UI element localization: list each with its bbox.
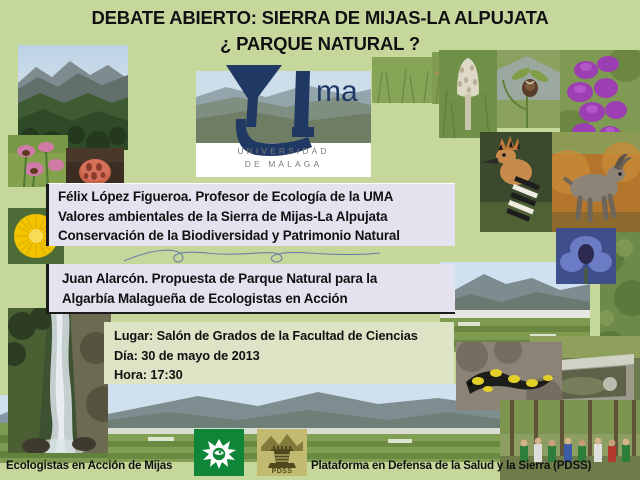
photo-hoopoe [480, 132, 552, 232]
uma-logo: ma UNIVERSIDAD DE MÁLAGA [196, 57, 371, 177]
pdss-logo-caption: PDSS [257, 468, 307, 475]
photo-ibex [548, 132, 640, 232]
ecologistas-en-accion-logo [194, 429, 244, 476]
event-venue: Lugar: Salón de Grados de la Facultad de… [114, 326, 454, 346]
speaker-2-panel: Juan Alarcón. Propuesta de Parque Natura… [46, 264, 455, 314]
uma-logo-caption: UNIVERSIDAD DE MÁLAGA [196, 145, 371, 171]
sun-bird-icon [194, 429, 244, 476]
photo-iris-blue [556, 228, 616, 284]
footer-label-right: Plataforma en Defensa de la Salud y la S… [311, 459, 591, 472]
poster-canvas: ma UNIVERSIDAD DE MÁLAGA DEBATE ABIERTO:… [0, 0, 640, 480]
decorative-squiggle [122, 247, 382, 269]
speaker-1-panel: Félix López Figueroa. Profesor de Ecolog… [46, 183, 455, 246]
speaker-1-line-3: Conservación de la Biodiversidad y Patri… [58, 226, 455, 246]
speaker-2-line-2: Algarbía Malagueña de Ecologistas en Acc… [62, 289, 455, 309]
speaker-1-line-2: Valores ambientales de la Sierra de Mija… [58, 207, 455, 227]
page-title: DEBATE ABIERTO: SIERRA DE MIJAS-LA ALPUJ… [0, 0, 640, 57]
title-line-2: ¿ PARQUE NATURAL ? [0, 31, 640, 57]
uma-caption-line2: DE MÁLAGA [196, 158, 371, 171]
uma-wordmark-text: ma [316, 75, 358, 108]
pdss-logo: PDSS [257, 429, 307, 476]
photo-valley-wide-bottom [108, 384, 508, 462]
photo-waterfall [8, 308, 111, 453]
title-line-1: DEBATE ABIERTO: SIERRA DE MIJAS-LA ALPUJ… [0, 5, 640, 31]
photo-mushroom-shaggy [439, 50, 497, 138]
photo-grass-top-strip [372, 57, 432, 103]
photo-orchid-pink [8, 135, 68, 187]
speaker-2-line-1: Juan Alarcón. Propuesta de Parque Natura… [62, 269, 455, 289]
event-date: Día: 30 de mayo de 2013 [114, 346, 454, 366]
photo-ophrys-orchid [497, 50, 563, 128]
speaker-1-line-1: Félix López Figueroa. Profesor de Ecolog… [58, 187, 455, 207]
event-details-panel: Lugar: Salón de Grados de la Facultad de… [104, 322, 454, 384]
footer-label-left: Ecologistas en Acción de Mijas [6, 459, 172, 472]
event-time: Hora: 17:30 [114, 365, 454, 385]
uma-caption-line1: UNIVERSIDAD [196, 145, 371, 158]
